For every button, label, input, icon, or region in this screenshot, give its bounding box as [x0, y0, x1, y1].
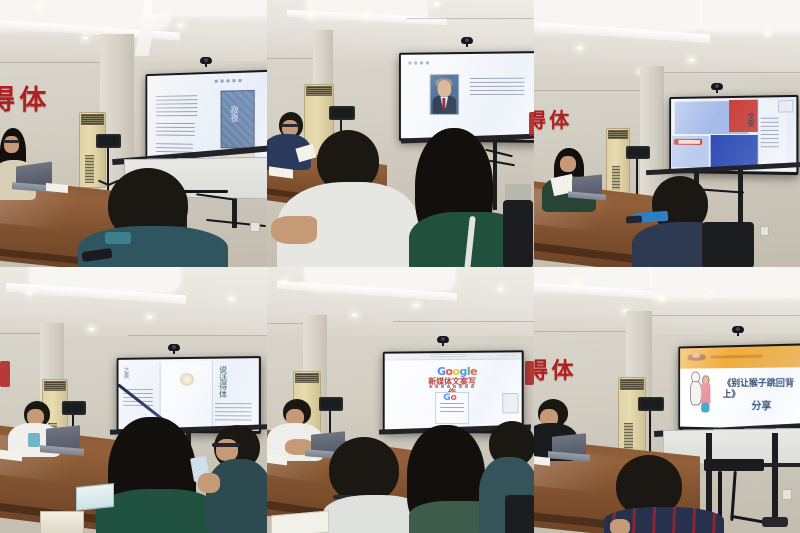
paper-box: [40, 511, 84, 533]
cartoon-bag: [701, 403, 710, 413]
office-chair: [503, 200, 533, 267]
display-screen: [401, 53, 534, 140]
slide-side-thumbnail: [502, 393, 519, 413]
wall-slogan: 得体: [534, 104, 572, 133]
slide-text-block: [761, 118, 779, 149]
downlight-icon: [576, 46, 583, 50]
wall-display: 《别让猴子跳回背上》 分享: [678, 343, 800, 432]
ac-vent: [85, 155, 94, 183]
person-torso-center-green: [96, 489, 218, 533]
photo-panel-1: 得体 寂夜: [0, 0, 267, 267]
conference-camera-icon: [198, 54, 214, 66]
person-arm: [271, 216, 317, 244]
cartoon-body-person: [701, 383, 710, 403]
downlight-icon: [764, 32, 771, 36]
photo-panel-3: 得体 文案: [534, 0, 800, 267]
wall-seam: [664, 72, 800, 73]
downlight-icon: [26, 291, 33, 295]
wall-seam: [267, 323, 305, 324]
slide-header-icon: [687, 352, 706, 364]
downlight-icon: [497, 287, 504, 291]
conference-camera-icon: [166, 341, 182, 353]
display-screen: 《别让猴子跳回背上》 分享: [680, 345, 800, 429]
browser-toolbar: [385, 352, 522, 360]
person-hand: [198, 473, 220, 493]
slide-block-blue: [711, 134, 763, 168]
slide-thumbnail: [778, 100, 794, 112]
speaker: [96, 134, 121, 148]
downlight-icon: [706, 291, 713, 295]
wall-decal-partial: [525, 361, 534, 385]
slide-label-text: [678, 139, 700, 143]
browser-menu-icon[interactable]: [499, 354, 516, 357]
slide-text-block: [215, 403, 251, 421]
downlight-icon: [228, 297, 235, 301]
ac-grill: [620, 379, 644, 390]
speaker: [638, 397, 664, 411]
notebook-stack: [76, 483, 114, 511]
conference-camera-icon: [459, 34, 475, 46]
slide-subtext-mark: [429, 385, 476, 388]
slide-header-rule: [711, 355, 763, 358]
person-hand: [610, 519, 630, 533]
display-screen: Google 新媒体文案写作 Go: [385, 352, 522, 430]
display-stand-leg: [772, 433, 778, 525]
ac-grill: [306, 86, 332, 96]
ac-grill: [295, 373, 319, 383]
conference-camera-icon: [435, 333, 451, 345]
ceiling-coffer: [152, 0, 267, 14]
slide-illustration: [689, 372, 715, 417]
ac-grill: [44, 381, 66, 391]
tripod-stand: [649, 411, 651, 453]
slide-portrait-photo: [430, 74, 459, 115]
speaker: [319, 397, 343, 411]
notebook: [271, 510, 329, 533]
ac-grill: [608, 130, 628, 139]
slide-text-block: [470, 77, 525, 98]
downlight-icon: [82, 36, 89, 40]
wall-seam: [267, 58, 313, 59]
tripod-stand: [636, 159, 638, 197]
eyeglasses: [281, 124, 299, 127]
ceiling-coffer: [702, 0, 800, 30]
wall-seam: [128, 335, 267, 336]
downlight-icon: [658, 297, 665, 301]
ceiling-coffer: [652, 267, 800, 297]
thumbnail-text-block: [440, 403, 465, 415]
slide-header-mark: [215, 79, 241, 83]
wall-seam: [652, 315, 800, 316]
power-socket: [760, 226, 769, 236]
photo-panel-5: Google 新媒体文案写作 Go: [267, 267, 534, 533]
wall-seam: [0, 62, 104, 63]
person-face: [4, 136, 19, 153]
eyeglasses: [3, 140, 20, 143]
slide-book-thumbnail: Go: [436, 391, 469, 423]
speaker: [329, 106, 355, 120]
cartoon-body-monkey: [690, 381, 702, 405]
power-strip: [762, 517, 788, 527]
person-face: [560, 156, 576, 172]
photo-collage: 得体 寂夜: [0, 0, 800, 533]
downlight-icon: [36, 4, 43, 8]
downlight-icon: [363, 14, 370, 18]
speaker: [62, 401, 86, 415]
slide-book-cover: 寂夜: [220, 90, 254, 149]
office-chair: [702, 222, 754, 267]
downlight-icon: [688, 58, 695, 62]
slide-vertical-title: 说话得体: [218, 366, 228, 398]
slide-page-right: 说话得体: [212, 360, 255, 428]
display-screen: 文案: [671, 97, 796, 172]
downlight-icon: [572, 281, 579, 285]
downlight-icon: [307, 14, 314, 18]
wall-seam: [534, 331, 628, 332]
power-socket: [250, 222, 260, 232]
conference-camera-icon: [709, 80, 725, 92]
photo-panel-2: [267, 0, 534, 267]
downlight-icon: [281, 279, 288, 283]
desk-item: [505, 184, 531, 200]
slide-vertical-text: 之美: [122, 366, 129, 378]
photo-panel-4: 之美 说话得体: [0, 267, 267, 533]
ac-vent: [624, 423, 633, 449]
slide-header-band: [680, 345, 800, 368]
slide-vertical-title: 文案: [747, 112, 755, 126]
downlight-icon: [433, 2, 440, 6]
ac-grill: [81, 114, 104, 125]
person-torso-right: [206, 459, 267, 533]
wall-display: [399, 51, 534, 143]
wall-display: Google 新媒体文案写作 Go: [383, 350, 524, 434]
power-socket: [782, 489, 792, 500]
slide-page-center: [162, 361, 212, 428]
person-torso-foreground: [78, 226, 228, 267]
wall-seam: [393, 321, 534, 322]
downlight-icon: [88, 327, 95, 331]
book-cover-title: 寂夜: [230, 106, 239, 122]
slide-text-block: [157, 95, 198, 116]
slide-text-block: [157, 123, 195, 138]
photo-panel-6: 得体 《别让猴子跳回背上》 分享: [534, 267, 800, 533]
wall-slogan: 得体: [0, 78, 51, 117]
cable-tray: [704, 459, 764, 471]
slide-subtitle-cn: 分享: [740, 397, 783, 413]
wall-seam: [407, 18, 534, 19]
eyeglasses: [212, 443, 240, 447]
shirt-graphic: [28, 433, 40, 447]
browser-address-bar[interactable]: [430, 354, 466, 357]
office-chair: [505, 495, 534, 533]
ac-vent: [612, 166, 620, 190]
slide-header-mark: [409, 61, 430, 64]
conference-camera-icon: [730, 323, 746, 335]
speaker: [626, 146, 650, 159]
paper-sheet: [534, 456, 550, 466]
wall-seam: [534, 90, 642, 91]
wall-decal-partial: [0, 361, 10, 387]
downlight-icon: [413, 303, 420, 307]
downlight-icon: [351, 313, 358, 317]
downlight-icon: [177, 23, 184, 27]
pointer-tip: [180, 373, 194, 386]
downlight-icon: [146, 315, 153, 319]
person-head-left: [329, 437, 399, 503]
shirt-collar: [105, 232, 131, 244]
phone-case: [626, 215, 642, 223]
wall-slogan: 得体: [534, 353, 577, 385]
